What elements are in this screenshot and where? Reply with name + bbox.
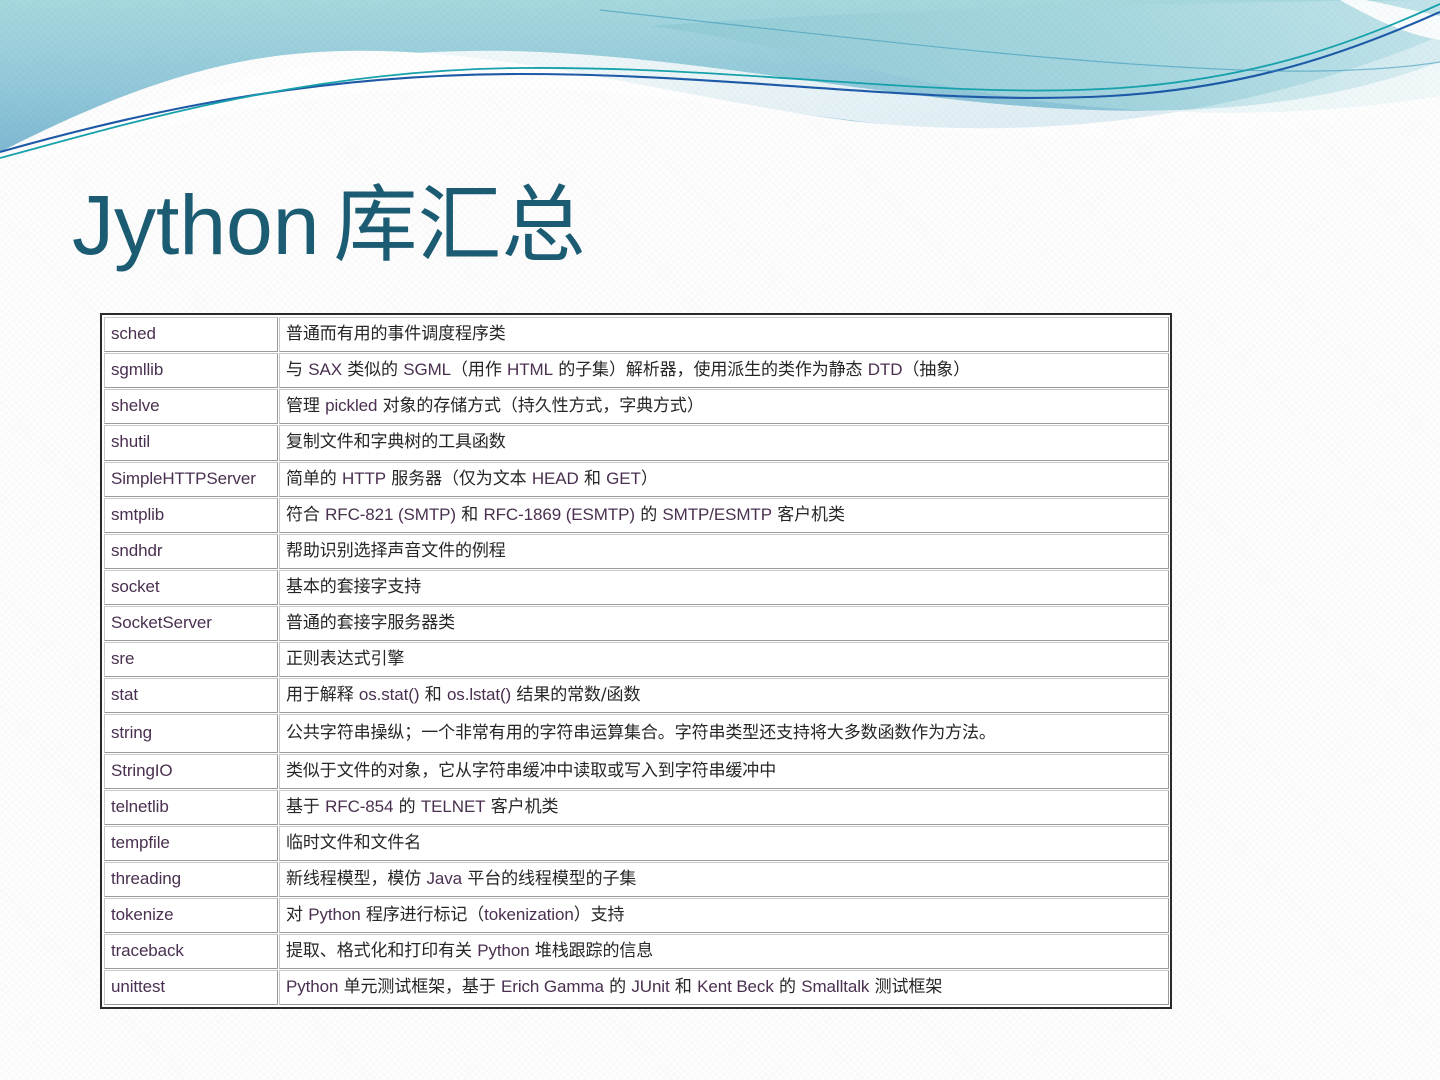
table-row: SocketServer普通的套接字服务器类 xyxy=(104,606,1169,641)
module-description-cell: 公共字符串操纵；一个非常有用的字符串运算集合。字符串类型还支持将大多数函数作为方… xyxy=(279,714,1169,752)
table-row: stat用于解释 os.stat() 和 os.lstat() 结果的常数/函数 xyxy=(104,678,1169,713)
module-name-cell: stat xyxy=(104,678,278,713)
slide-title-cjk: 库汇总 xyxy=(320,176,586,274)
table-body: sched普通而有用的事件调度程序类sgmllib与 SAX 类似的 SGML（… xyxy=(104,317,1169,1005)
module-description-cell: 管理 pickled 对象的存储方式（持久性方式，字典方式） xyxy=(279,389,1169,424)
table-row: SimpleHTTPServer简单的 HTTP 服务器（仅为文本 HEAD 和… xyxy=(104,462,1169,497)
module-description-cell: Python 单元测试框架，基于 Erich Gamma 的 JUnit 和 K… xyxy=(279,970,1169,1005)
slide-canvas: Jython库汇总 sched普通而有用的事件调度程序类sgmllib与 SAX… xyxy=(0,0,1440,1080)
jython-library-table: sched普通而有用的事件调度程序类sgmllib与 SAX 类似的 SGML（… xyxy=(103,316,1170,1006)
module-name-cell: StringIO xyxy=(104,754,278,789)
module-description-cell: 简单的 HTTP 服务器（仅为文本 HEAD 和 GET） xyxy=(279,462,1169,497)
jython-library-table-container: sched普通而有用的事件调度程序类sgmllib与 SAX 类似的 SGML（… xyxy=(100,313,1172,1009)
table-row: socket基本的套接字支持 xyxy=(104,570,1169,605)
module-description-cell: 临时文件和文件名 xyxy=(279,826,1169,861)
module-name-cell: SocketServer xyxy=(104,606,278,641)
module-description-cell: 与 SAX 类似的 SGML（用作 HTML 的子集）解析器，使用派生的类作为静… xyxy=(279,353,1169,388)
table-row: tokenize对 Python 程序进行标记（tokenization）支持 xyxy=(104,898,1169,933)
module-description-cell: 正则表达式引擎 xyxy=(279,642,1169,677)
module-name-cell: unittest xyxy=(104,970,278,1005)
module-description-cell: 提取、格式化和打印有关 Python 堆栈跟踪的信息 xyxy=(279,934,1169,969)
module-name-cell: traceback xyxy=(104,934,278,969)
module-description-cell: 基于 RFC-854 的 TELNET 客户机类 xyxy=(279,790,1169,825)
module-name-cell: sndhdr xyxy=(104,534,278,569)
module-name-cell: SimpleHTTPServer xyxy=(104,462,278,497)
module-name-cell: shelve xyxy=(104,389,278,424)
module-name-cell: sre xyxy=(104,642,278,677)
table-row: shelve管理 pickled 对象的存储方式（持久性方式，字典方式） xyxy=(104,389,1169,424)
module-description-cell: 类似于文件的对象，它从字符串缓冲中读取或写入到字符串缓冲中 xyxy=(279,754,1169,789)
module-name-cell: string xyxy=(104,714,278,752)
decorative-wave-banner xyxy=(0,0,1440,168)
module-description-cell: 符合 RFC-821 (SMTP) 和 RFC-1869 (ESMTP) 的 S… xyxy=(279,498,1169,533)
module-name-cell: tokenize xyxy=(104,898,278,933)
module-name-cell: telnetlib xyxy=(104,790,278,825)
module-description-cell: 用于解释 os.stat() 和 os.lstat() 结果的常数/函数 xyxy=(279,678,1169,713)
table-row: StringIO类似于文件的对象，它从字符串缓冲中读取或写入到字符串缓冲中 xyxy=(104,754,1169,789)
table-row: smtplib符合 RFC-821 (SMTP) 和 RFC-1869 (ESM… xyxy=(104,498,1169,533)
module-name-cell: tempfile xyxy=(104,826,278,861)
module-name-cell: smtplib xyxy=(104,498,278,533)
module-description-cell: 对 Python 程序进行标记（tokenization）支持 xyxy=(279,898,1169,933)
module-name-cell: socket xyxy=(104,570,278,605)
table-row: telnetlib基于 RFC-854 的 TELNET 客户机类 xyxy=(104,790,1169,825)
module-description-cell: 复制文件和字典树的工具函数 xyxy=(279,425,1169,460)
table-row: sched普通而有用的事件调度程序类 xyxy=(104,317,1169,352)
module-description-cell: 基本的套接字支持 xyxy=(279,570,1169,605)
module-description-cell: 普通的套接字服务器类 xyxy=(279,606,1169,641)
table-row: sre正则表达式引擎 xyxy=(104,642,1169,677)
module-description-cell: 帮助识别选择声音文件的例程 xyxy=(279,534,1169,569)
module-description-cell: 普通而有用的事件调度程序类 xyxy=(279,317,1169,352)
module-name-cell: shutil xyxy=(104,425,278,460)
module-name-cell: sgmllib xyxy=(104,353,278,388)
slide-title-latin: Jython xyxy=(72,178,320,272)
table-row: unittestPython 单元测试框架，基于 Erich Gamma 的 J… xyxy=(104,970,1169,1005)
table-row: string公共字符串操纵；一个非常有用的字符串运算集合。字符串类型还支持将大多… xyxy=(104,714,1169,752)
table-row: threading新线程模型，模仿 Java 平台的线程模型的子集 xyxy=(104,862,1169,897)
module-name-cell: sched xyxy=(104,317,278,352)
table-row: traceback提取、格式化和打印有关 Python 堆栈跟踪的信息 xyxy=(104,934,1169,969)
slide-title: Jython库汇总 xyxy=(72,178,586,272)
table-row: shutil复制文件和字典树的工具函数 xyxy=(104,425,1169,460)
module-name-cell: threading xyxy=(104,862,278,897)
table-row: sgmllib与 SAX 类似的 SGML（用作 HTML 的子集）解析器，使用… xyxy=(104,353,1169,388)
table-row: tempfile临时文件和文件名 xyxy=(104,826,1169,861)
module-description-cell: 新线程模型，模仿 Java 平台的线程模型的子集 xyxy=(279,862,1169,897)
table-row: sndhdr帮助识别选择声音文件的例程 xyxy=(104,534,1169,569)
